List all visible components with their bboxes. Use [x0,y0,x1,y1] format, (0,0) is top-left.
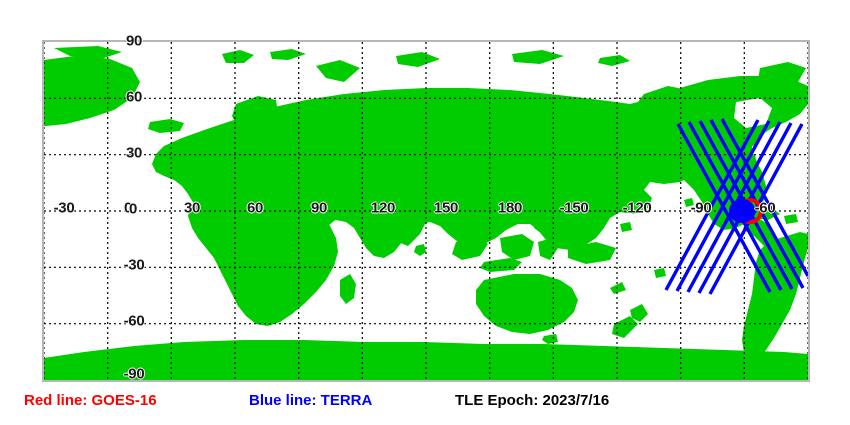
lat-tick--60: -60 [124,313,145,330]
lat-tick-0: 0 [129,201,137,218]
lat-tick--90: -90 [124,366,145,383]
lat-tick--30: -30 [124,257,145,274]
legend-red-line-goes16: Red line: GOES-16 [24,392,157,409]
lon-tick-60: 60 [247,200,263,217]
lon-tick--30: -30 [54,200,75,217]
lon-tick-180: 180 [498,200,522,217]
terra-position-marker [729,199,755,223]
lon-tick-30: 30 [184,200,200,217]
legend-tle-epoch: TLE Epoch: 2023/7/16 [455,392,609,409]
lat-tick-60: 60 [126,89,142,106]
lon-tick--120: -120 [623,200,652,217]
lon-tick-150: 150 [434,200,458,217]
lon-tick--60: -60 [755,200,776,217]
lat-tick-90: 90 [126,33,142,50]
lon-tick-90: 90 [311,200,327,217]
legend-blue-line-terra: Blue line: TERRA [249,392,372,409]
lon-tick--150: -150 [560,200,589,217]
lon-tick--90: -90 [691,200,712,217]
figure-legend: Red line: GOES-16 Blue line: TERRA TLE E… [0,392,850,420]
satellite-ground-track-figure: -30 0 30 60 90 120 150 180 -150 -120 -90… [0,0,850,425]
lat-tick-30: 30 [126,145,142,162]
lon-tick-120: 120 [371,200,395,217]
